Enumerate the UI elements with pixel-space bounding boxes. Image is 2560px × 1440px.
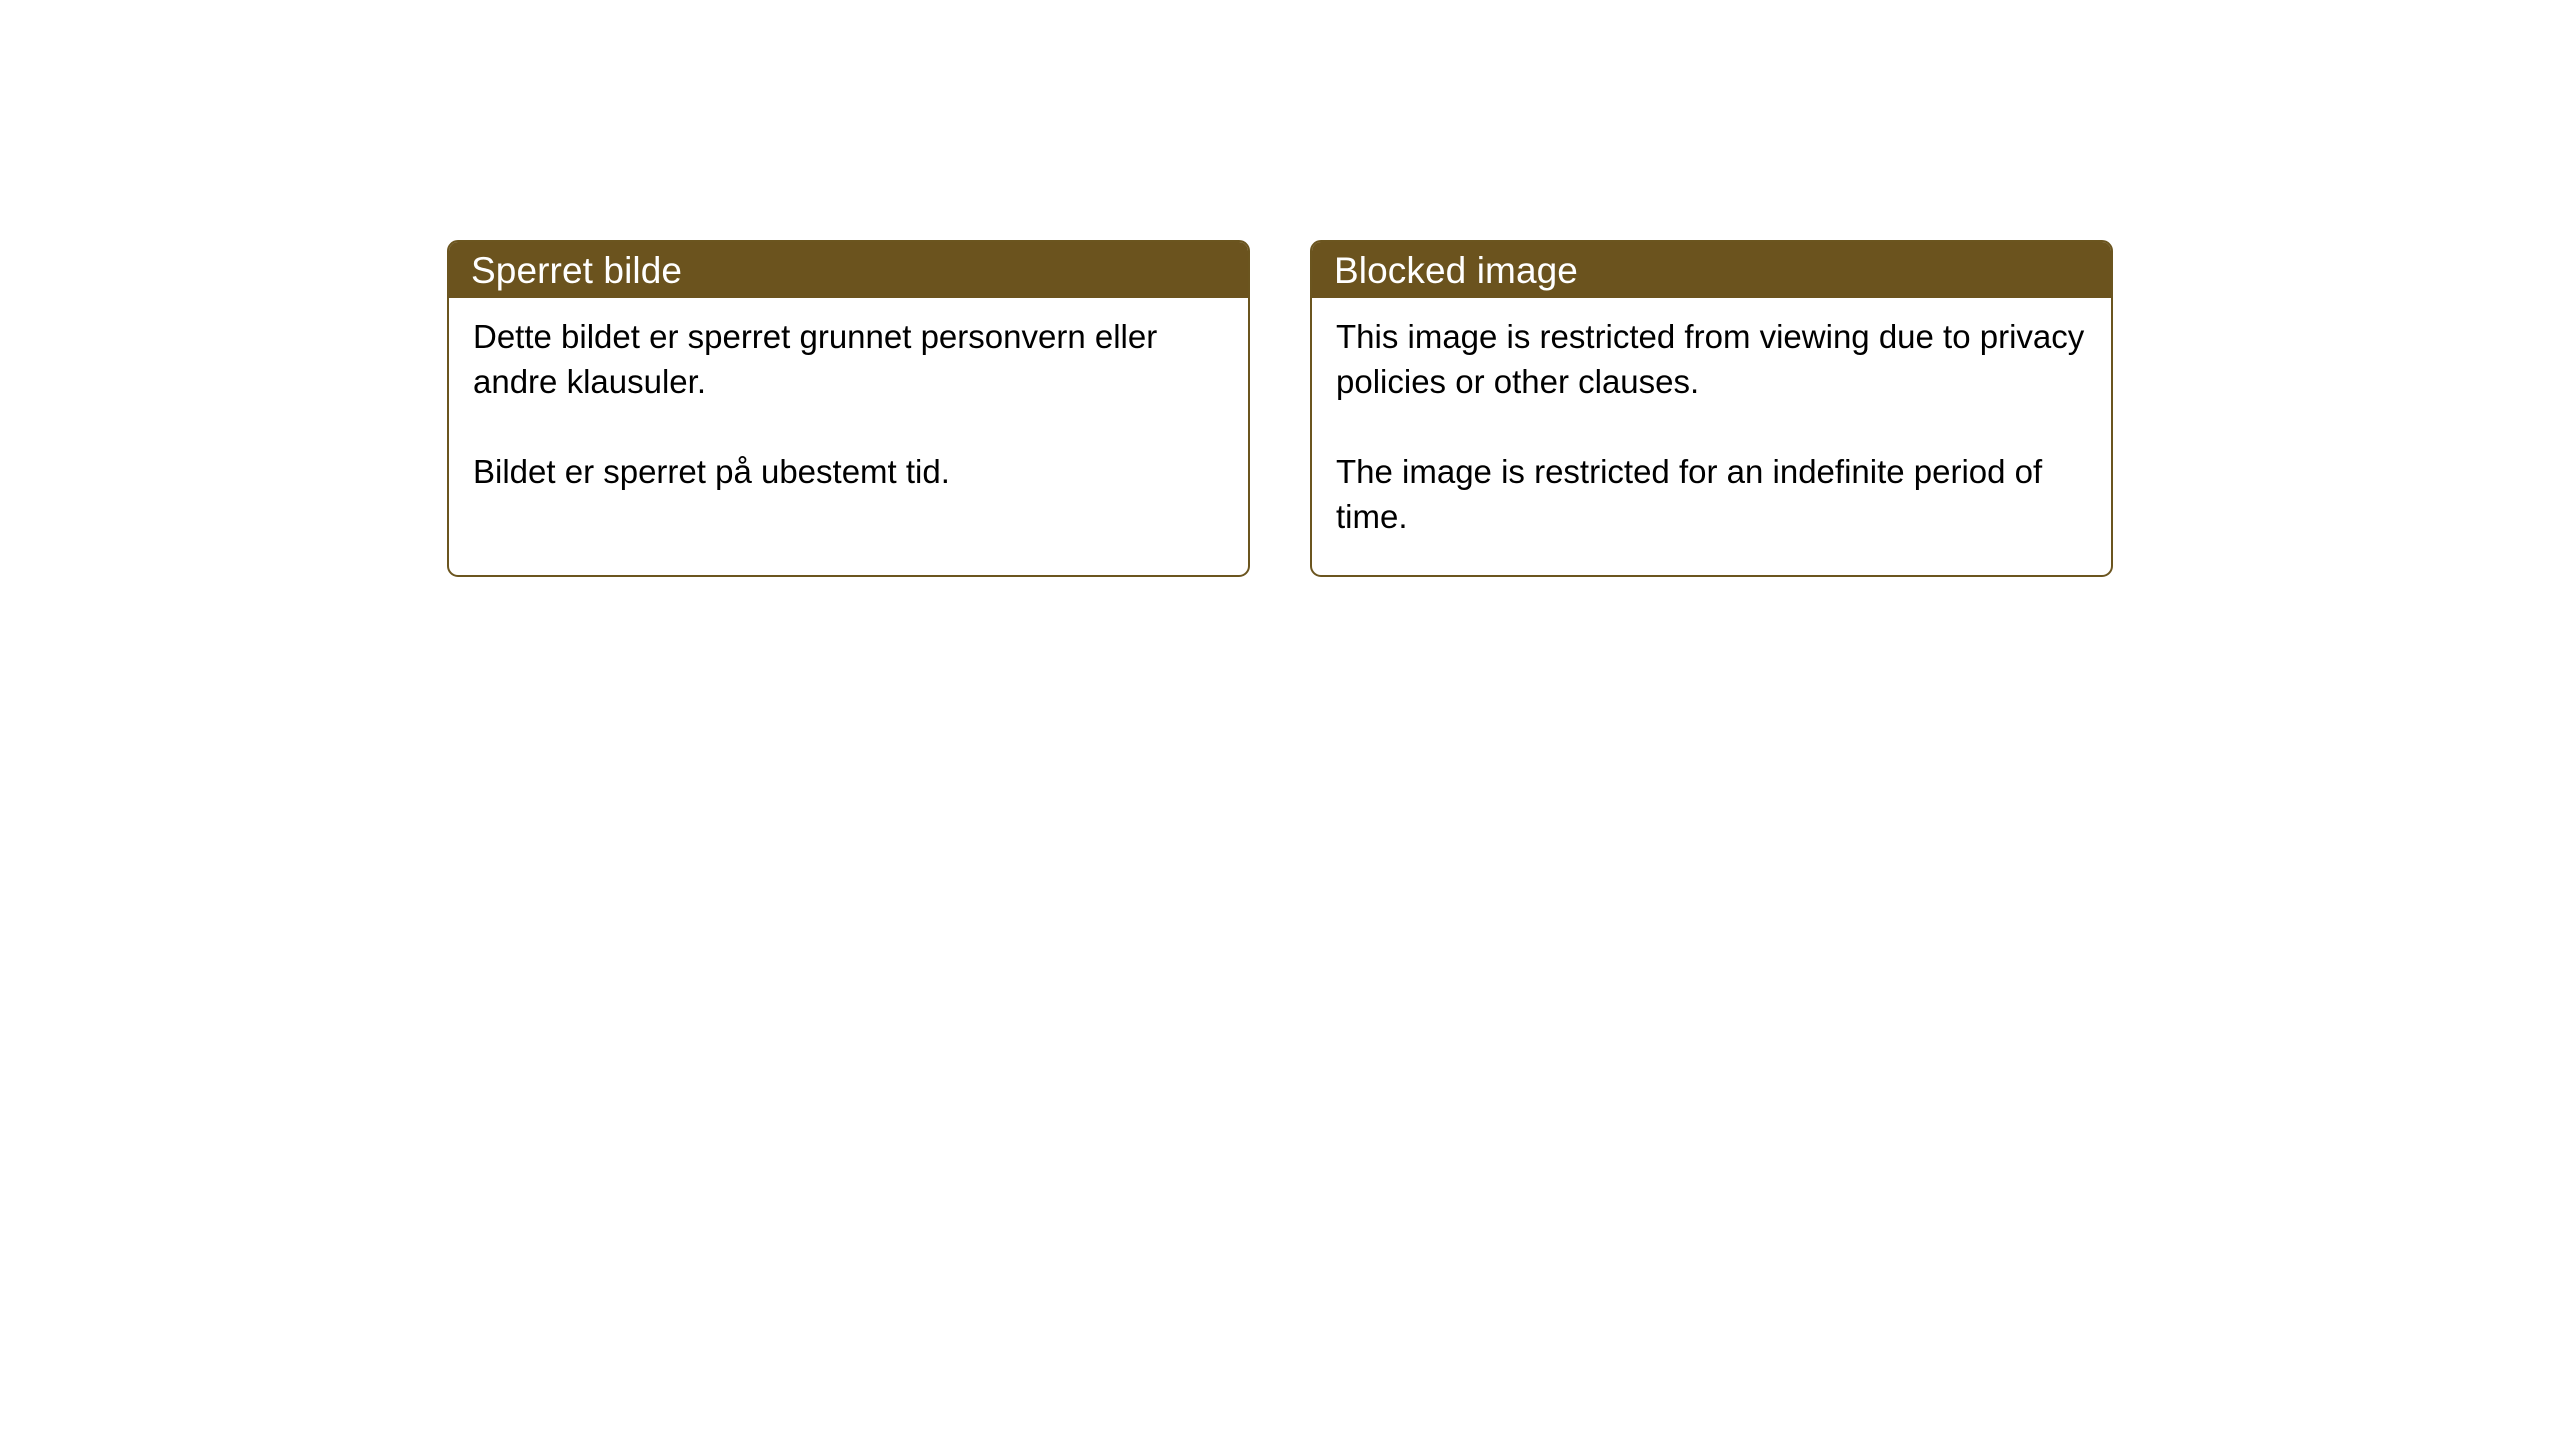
card-header-english: Blocked image: [1312, 242, 2111, 298]
card-title-norwegian: Sperret bilde: [471, 252, 682, 289]
card-body-english: This image is restricted from viewing du…: [1312, 298, 2111, 539]
blocked-image-card-english: Blocked image This image is restricted f…: [1310, 240, 2113, 577]
blocked-image-card-norwegian: Sperret bilde Dette bildet er sperret gr…: [447, 240, 1250, 577]
card-title-english: Blocked image: [1334, 252, 1578, 289]
card-paragraph-primary-english: This image is restricted from viewing du…: [1336, 314, 2087, 404]
card-paragraph-secondary-norwegian: Bildet er sperret på ubestemt tid.: [473, 449, 1224, 494]
blocked-image-notice-area: Sperret bilde Dette bildet er sperret gr…: [0, 0, 2560, 1440]
card-paragraph-secondary-english: The image is restricted for an indefinit…: [1336, 449, 2087, 539]
card-header-norwegian: Sperret bilde: [449, 242, 1248, 298]
card-paragraph-primary-norwegian: Dette bildet er sperret grunnet personve…: [473, 314, 1224, 404]
card-body-norwegian: Dette bildet er sperret grunnet personve…: [449, 298, 1248, 494]
